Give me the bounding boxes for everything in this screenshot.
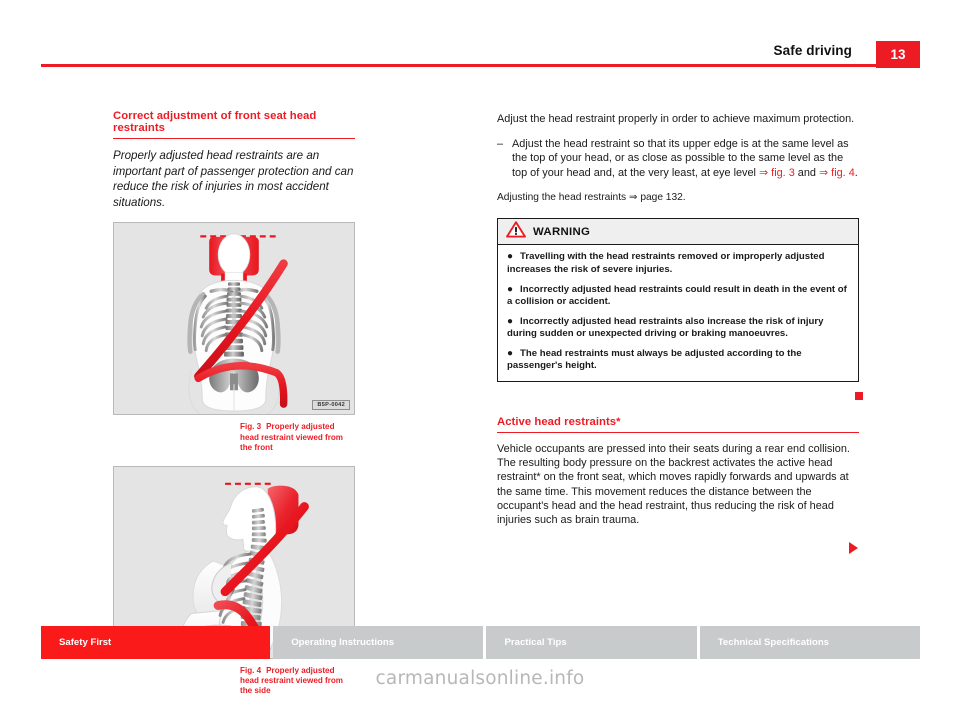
front-view-illustration <box>114 223 354 414</box>
continuation-triangle-marker <box>849 542 858 554</box>
left-column: Correct adjustment of front seat head re… <box>113 110 355 697</box>
page-header: Safe driving 13 <box>0 0 960 72</box>
bullet-glyph: ● <box>507 316 513 327</box>
adjusting-head-restraints-note[interactable]: Adjusting the head restraints ⇒ page 132… <box>497 191 859 205</box>
warning-body: ●Travelling with the head restraints rem… <box>498 245 858 381</box>
warning-bullet: ●Incorrectly adjusted head restraints co… <box>507 284 849 309</box>
footer-tab-technical-specifications[interactable]: Technical Specifications <box>700 626 920 659</box>
figure-3-code: B5P-0042 <box>312 400 350 410</box>
instr-part-2: and <box>795 167 819 179</box>
right-intro-paragraph: Adjust the head restraint properly in or… <box>497 112 859 126</box>
footer-tab-label: Practical Tips <box>504 637 566 648</box>
adjustment-instruction-text: Adjust the head restraint so that its up… <box>512 137 859 180</box>
bullet-glyph: ● <box>507 251 513 262</box>
left-intro-paragraph: Properly adjusted head restraints are an… <box>113 148 355 210</box>
xref-fig-3[interactable]: ⇒ fig. 3 <box>759 167 795 179</box>
left-section-heading: Correct adjustment of front seat head re… <box>113 110 355 139</box>
footer-tab-label: Operating Instructions <box>291 637 394 648</box>
warning-bullet: ●The head restraints must always be adju… <box>507 348 849 373</box>
footer-tab-label: Technical Specifications <box>718 637 829 648</box>
warning-bullet-text: Incorrectly adjusted head restraints als… <box>507 316 823 340</box>
dash-marker: – <box>497 137 512 180</box>
warning-box: WARNING ●Travelling with the head restra… <box>497 218 859 382</box>
footer-tab-operating-instructions[interactable]: Operating Instructions <box>273 626 483 659</box>
warning-bullet: ●Incorrectly adjusted head restraints al… <box>507 316 849 341</box>
warning-bullet-text: The head restraints must always be adjus… <box>507 348 802 372</box>
header-rule <box>41 64 920 67</box>
warning-header: WARNING <box>498 219 858 245</box>
manual-page: Safe driving 13 Correct adjustment of fr… <box>0 0 960 701</box>
site-watermark: carmanualsonline.info <box>0 668 960 689</box>
bullet-glyph: ● <box>507 284 513 295</box>
adjustment-instruction-item: – Adjust the head restraint so that its … <box>497 137 859 180</box>
footer-tab-practical-tips[interactable]: Practical Tips <box>486 626 696 659</box>
warning-title: WARNING <box>533 226 590 238</box>
figure-3-image: B5P-0042 <box>113 222 355 415</box>
page-title: Safe driving <box>774 43 852 58</box>
warning-bullet-text: Incorrectly adjusted head restraints cou… <box>507 284 847 308</box>
right-column: Adjust the head restraint properly in or… <box>497 112 859 527</box>
figure-3-caption: Fig. 3Properly adjusted head restraint v… <box>240 422 355 453</box>
figure-3-number: Fig. 3 <box>240 422 261 431</box>
footer-tab-label: Safety First <box>59 637 111 648</box>
xref-fig-4[interactable]: ⇒ fig. 4 <box>819 167 855 179</box>
active-head-restraints-body: Vehicle occupants are pressed into their… <box>497 442 859 527</box>
page-number-badge: 13 <box>876 41 920 68</box>
footer-tab-safety-first[interactable]: Safety First <box>41 626 270 659</box>
warning-bullet: ●Travelling with the head restraints rem… <box>507 251 849 276</box>
warning-triangle-icon <box>506 221 526 243</box>
section-end-square-marker <box>855 392 863 400</box>
instr-part-3: . <box>855 167 858 179</box>
bullet-glyph: ● <box>507 348 513 359</box>
warning-bullet-text: Travelling with the head restraints remo… <box>507 251 824 275</box>
footer-nav: Safety First Operating Instructions Prac… <box>41 626 920 659</box>
active-head-restraints-heading: Active head restraints* <box>497 416 859 433</box>
